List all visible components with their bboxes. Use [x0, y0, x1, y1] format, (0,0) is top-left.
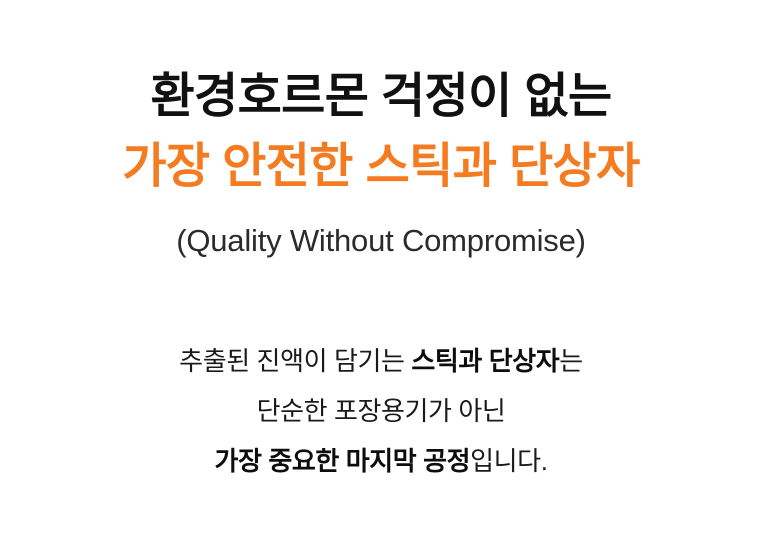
body-line-1-emphasis: 스틱과 단상자 [411, 346, 559, 376]
heading-block: 환경호르몬 걱정이 없는 가장 안전한 스틱과 단상자 [0, 62, 762, 202]
body-line-3: 가장 중요한 마지막 공정입니다. [0, 436, 762, 486]
body-line-3-suffix: 입니다. [470, 446, 547, 476]
body-line-3-emphasis: 가장 중요한 마지막 공정 [214, 446, 470, 476]
subtitle-english-tagline: (Quality Without Compromise) [0, 220, 762, 262]
body-line-1-suffix: 는 [559, 346, 583, 376]
body-line-2: 단순한 포장용기가 아닌 [0, 386, 762, 436]
body-line-1: 추출된 진액이 담기는 스틱과 단상자는 [0, 336, 762, 386]
promotional-slide: 환경호르몬 걱정이 없는 가장 안전한 스틱과 단상자 (Quality Wit… [0, 0, 762, 554]
body-line-1-prefix: 추출된 진액이 담기는 [179, 346, 411, 376]
body-line-2-text: 단순한 포장용기가 아닌 [257, 396, 506, 426]
body-paragraph: 추출된 진액이 담기는 스틱과 단상자는 단순한 포장용기가 아닌 가장 중요한… [0, 336, 762, 486]
headline-line-1: 환경호르몬 걱정이 없는 [0, 62, 762, 132]
headline-line-2-accent: 가장 안전한 스틱과 단상자 [0, 132, 762, 202]
